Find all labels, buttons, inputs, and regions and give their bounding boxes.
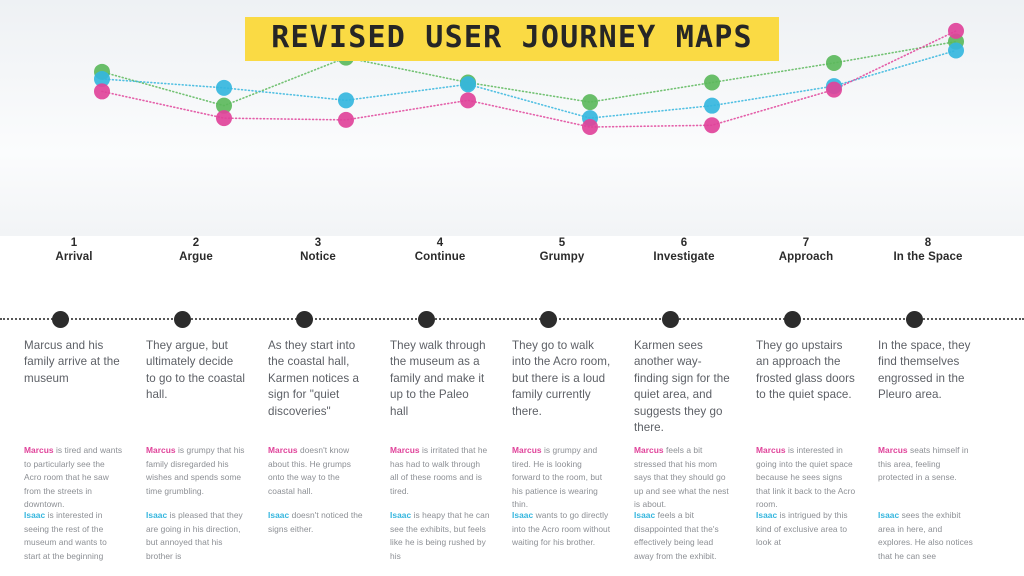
isaac-note-cell-4: Isaac is heapy that he can see the exhib… xyxy=(390,509,512,563)
isaac-label: Isaac xyxy=(24,510,45,520)
data-point-karmen-6[interactable] xyxy=(704,75,720,91)
journey-detail-section: 1Arrival2Argue3Notice4Continue5Grumpy6In… xyxy=(0,236,1024,576)
marcus-note: Marcus is grumpy that his family disrega… xyxy=(146,444,246,498)
timeline-dot-cell-4 xyxy=(390,304,512,334)
isaac-note: Isaac sees the exhibit area in here, and… xyxy=(878,509,978,563)
stage-description-cell-2: They argue, but ultimately decide to go … xyxy=(146,338,268,437)
timeline-dot-cell-6 xyxy=(634,304,756,334)
timeline-dot[interactable] xyxy=(662,311,679,328)
stage-header-7[interactable]: 7Approach xyxy=(756,236,878,266)
journey-line-chart xyxy=(0,0,1024,236)
data-point-marcus-1[interactable] xyxy=(94,83,110,99)
data-point-isaac-4[interactable] xyxy=(460,76,476,92)
stage-description: They go to walk into the Acro room, but … xyxy=(512,338,612,420)
stage-name: Investigate xyxy=(634,250,734,266)
isaac-label: Isaac xyxy=(878,510,899,520)
stage-description-cell-3: As they start into the coastal hall, Kar… xyxy=(268,338,390,437)
timeline-dot[interactable] xyxy=(296,311,313,328)
stage-description: Marcus and his family arrive at the muse… xyxy=(24,338,124,387)
series-line-karmen xyxy=(102,42,956,106)
timeline-dot-cell-8 xyxy=(878,304,1000,334)
stage-header-1[interactable]: 1Arrival xyxy=(24,236,146,266)
stage-number: 5 xyxy=(512,236,612,250)
marcus-note: Marcus is interested in going into the q… xyxy=(756,444,856,512)
isaac-label: Isaac xyxy=(146,510,167,520)
timeline-dot[interactable] xyxy=(418,311,435,328)
series-line-marcus xyxy=(102,31,956,127)
journey-map-page: REVISED USER JOURNEY MAPS 1Arrival2Argue… xyxy=(0,0,1024,576)
isaac-note-cell-1: Isaac is interested in seeing the rest o… xyxy=(24,509,146,563)
isaac-label: Isaac xyxy=(390,510,411,520)
timeline-dot[interactable] xyxy=(174,311,191,328)
marcus-note-cell-1: Marcus is tired and wants to particularl… xyxy=(24,444,146,512)
isaac-note-cell-2: Isaac is pleased that they are going in … xyxy=(146,509,268,563)
isaac-note-cell-7: Isaac is intrigued by this kind of exclu… xyxy=(756,509,878,563)
stage-number: 4 xyxy=(390,236,490,250)
data-point-marcus-8[interactable] xyxy=(948,23,964,39)
marcus-note: Marcus is irritated that he has had to w… xyxy=(390,444,490,498)
stage-number: 8 xyxy=(878,236,978,250)
timeline-dot[interactable] xyxy=(784,311,801,328)
data-point-karmen-3[interactable] xyxy=(338,50,354,66)
data-point-isaac-2[interactable] xyxy=(216,80,232,96)
marcus-note: Marcus feels a bit stressed that his mom… xyxy=(634,444,734,512)
stage-number: 3 xyxy=(268,236,368,250)
stage-description-cell-7: They go upstairs an approach the frosted… xyxy=(756,338,878,437)
stage-description-cell-4: They walk through the museum as a family… xyxy=(390,338,512,437)
stage-name: Approach xyxy=(756,250,856,266)
isaac-notes-row: Isaac is interested in seeing the rest o… xyxy=(0,509,1024,563)
data-point-marcus-7[interactable] xyxy=(826,82,842,98)
data-point-marcus-5[interactable] xyxy=(582,119,598,135)
stage-description: In the space, they find themselves engro… xyxy=(878,338,978,404)
stage-number: 1 xyxy=(24,236,124,250)
isaac-note-cell-5: Isaac wants to go directly into the Acro… xyxy=(512,509,634,563)
stage-description-cell-1: Marcus and his family arrive at the muse… xyxy=(24,338,146,437)
isaac-note-cell-3: Isaac doesn't noticed the signs either. xyxy=(268,509,390,563)
timeline-dot-cell-2 xyxy=(146,304,268,334)
timeline-axis xyxy=(0,304,1024,334)
stage-number: 7 xyxy=(756,236,856,250)
stage-description-cell-6: Karmen sees another way-finding sign for… xyxy=(634,338,756,437)
marcus-label: Marcus xyxy=(24,445,54,455)
isaac-label: Isaac xyxy=(756,510,777,520)
isaac-note-cell-6: Isaac feels a bit disappointed that the'… xyxy=(634,509,756,563)
data-point-isaac-8[interactable] xyxy=(948,42,964,58)
stage-description: As they start into the coastal hall, Kar… xyxy=(268,338,368,420)
marcus-note-cell-6: Marcus feels a bit stressed that his mom… xyxy=(634,444,756,512)
data-point-isaac-3[interactable] xyxy=(338,92,354,108)
marcus-label: Marcus xyxy=(390,445,420,455)
marcus-note-cell-3: Marcus doesn't know about this. He grump… xyxy=(268,444,390,512)
marcus-note: Marcus doesn't know about this. He grump… xyxy=(268,444,368,498)
stage-name: Arrival xyxy=(24,250,124,266)
stage-description: They argue, but ultimately decide to go … xyxy=(146,338,246,404)
stage-name: Notice xyxy=(268,250,368,266)
isaac-label: Isaac xyxy=(268,510,289,520)
timeline-dot-cell-1 xyxy=(24,304,146,334)
marcus-note-cell-5: Marcus is grumpy and tired. He is lookin… xyxy=(512,444,634,512)
isaac-label: Isaac xyxy=(512,510,533,520)
data-point-marcus-4[interactable] xyxy=(460,92,476,108)
data-point-karmen-7[interactable] xyxy=(826,55,842,71)
stage-header-8[interactable]: 8In the Space xyxy=(878,236,1000,266)
stage-header-6[interactable]: 6Investigate xyxy=(634,236,756,266)
marcus-note: Marcus is tired and wants to particularl… xyxy=(24,444,124,512)
timeline-dot[interactable] xyxy=(906,311,923,328)
isaac-label: Isaac xyxy=(634,510,655,520)
marcus-note-cell-7: Marcus is interested in going into the q… xyxy=(756,444,878,512)
data-point-isaac-6[interactable] xyxy=(704,98,720,114)
data-point-marcus-2[interactable] xyxy=(216,110,232,126)
isaac-note: Isaac doesn't noticed the signs either. xyxy=(268,509,368,536)
isaac-note: Isaac is heapy that he can see the exhib… xyxy=(390,509,490,563)
marcus-label: Marcus xyxy=(512,445,542,455)
marcus-note: Marcus is grumpy and tired. He is lookin… xyxy=(512,444,612,512)
stage-name: Continue xyxy=(390,250,490,266)
stage-name: Argue xyxy=(146,250,246,266)
isaac-note: Isaac is pleased that they are going in … xyxy=(146,509,246,563)
stage-description-row: Marcus and his family arrive at the muse… xyxy=(0,338,1024,437)
marcus-label: Marcus xyxy=(756,445,786,455)
stage-name: Grumpy xyxy=(512,250,612,266)
timeline-dot-cell-5 xyxy=(512,304,634,334)
isaac-note: Isaac feels a bit disappointed that the'… xyxy=(634,509,734,563)
data-point-karmen-5[interactable] xyxy=(582,94,598,110)
stage-header-2[interactable]: 2Argue xyxy=(146,236,268,266)
marcus-notes-row: Marcus is tired and wants to particularl… xyxy=(0,444,1024,512)
marcus-label: Marcus xyxy=(146,445,176,455)
data-point-marcus-3[interactable] xyxy=(338,112,354,128)
bottom-fade xyxy=(0,564,1024,576)
stage-number: 6 xyxy=(634,236,734,250)
stage-description: They walk through the museum as a family… xyxy=(390,338,490,420)
timeline-dot-cell-7 xyxy=(756,304,878,334)
journey-chart-band: REVISED USER JOURNEY MAPS xyxy=(0,0,1024,236)
stage-description: They go upstairs an approach the frosted… xyxy=(756,338,856,404)
marcus-note: Marcus seats himself in this area, feeli… xyxy=(878,444,978,485)
stage-number: 2 xyxy=(146,236,246,250)
timeline-dot[interactable] xyxy=(540,311,557,328)
stage-name: In the Space xyxy=(878,250,978,266)
marcus-note-cell-8: Marcus seats himself in this area, feeli… xyxy=(878,444,1000,512)
isaac-note: Isaac is intrigued by this kind of exclu… xyxy=(756,509,856,550)
marcus-label: Marcus xyxy=(878,445,908,455)
timeline-dot-cell-3 xyxy=(268,304,390,334)
stage-header-row: 1Arrival2Argue3Notice4Continue5Grumpy6In… xyxy=(0,236,1024,298)
stage-description-cell-8: In the space, they find themselves engro… xyxy=(878,338,1000,437)
stage-description-cell-5: They go to walk into the Acro room, but … xyxy=(512,338,634,437)
timeline-dot[interactable] xyxy=(52,311,69,328)
isaac-note: Isaac is interested in seeing the rest o… xyxy=(24,509,124,563)
stage-header-3[interactable]: 3Notice xyxy=(268,236,390,266)
marcus-note-cell-2: Marcus is grumpy that his family disrega… xyxy=(146,444,268,512)
isaac-note-cell-8: Isaac sees the exhibit area in here, and… xyxy=(878,509,1000,563)
stage-header-4[interactable]: 4Continue xyxy=(390,236,512,266)
marcus-note-cell-4: Marcus is irritated that he has had to w… xyxy=(390,444,512,512)
data-point-marcus-6[interactable] xyxy=(704,117,720,133)
stage-header-5[interactable]: 5Grumpy xyxy=(512,236,634,266)
stage-description: Karmen sees another way-finding sign for… xyxy=(634,338,734,437)
marcus-label: Marcus xyxy=(634,445,664,455)
isaac-note: Isaac wants to go directly into the Acro… xyxy=(512,509,612,550)
marcus-label: Marcus xyxy=(268,445,298,455)
